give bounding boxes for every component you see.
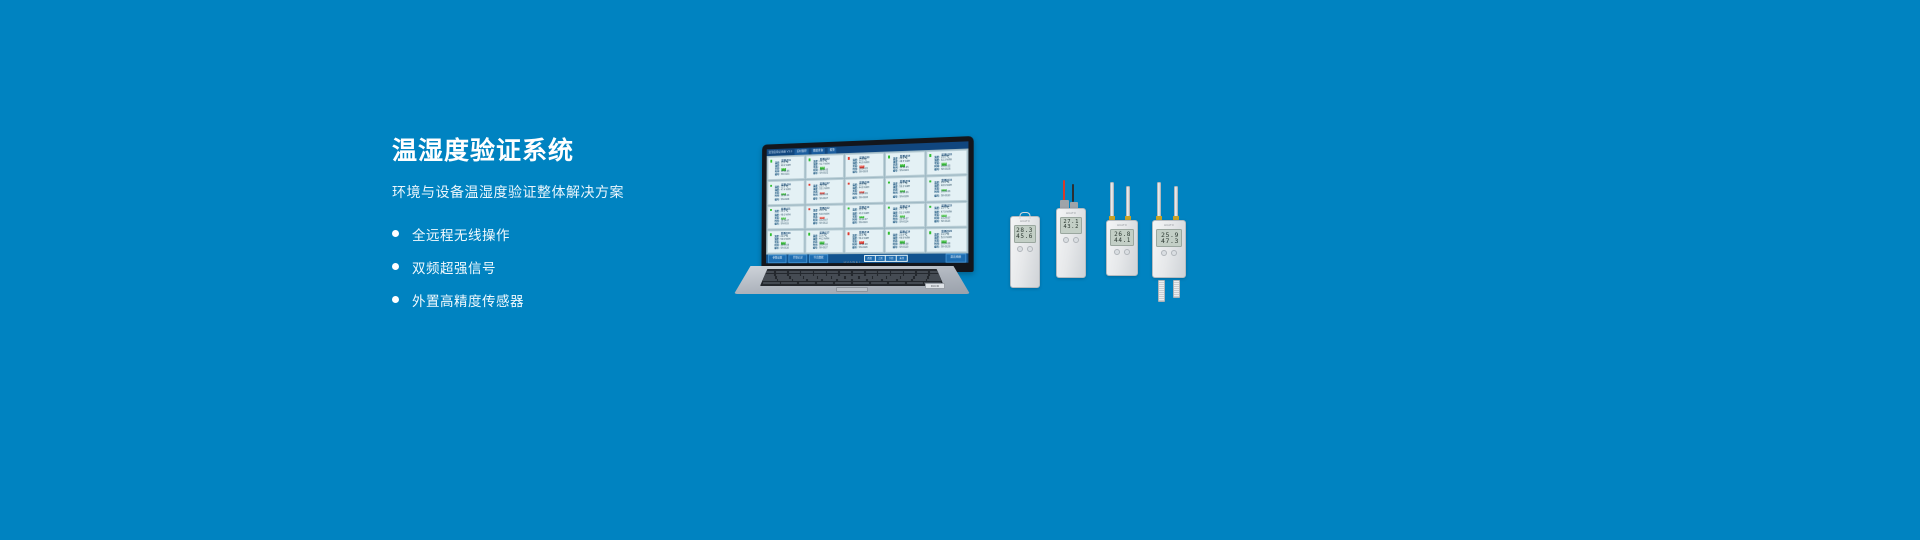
trackpad[interactable]: [836, 287, 868, 292]
keyboard-key[interactable]: [853, 271, 864, 273]
sensor-field-value: 48.6 %RH: [941, 185, 952, 188]
sensor-field-value: SN-0104: [900, 170, 909, 173]
keyboard-key[interactable]: [776, 274, 787, 276]
sensor-field-label: 编号:: [813, 247, 818, 250]
keyboard-key[interactable]: [799, 282, 816, 284]
sensor-field-label: 编号:: [852, 247, 857, 250]
sensor-card-row: 编号:SN-0109: [893, 195, 922, 199]
power-button[interactable]: [1017, 246, 1023, 252]
keyboard-key[interactable]: [917, 274, 928, 276]
app-toolbar: 参数设置 开始记录 导出数据 首页 上页 下页 末页 退出系统: [766, 253, 968, 263]
keyboard-key[interactable]: [827, 271, 838, 273]
keyboard-key[interactable]: [801, 271, 812, 273]
sensor-card[interactable]: 监测点05温度:25.0 ℃湿度:52.3 %RH状态:正常时间:10:24:0…: [926, 150, 967, 176]
feature-label: 外置高精度传感器: [412, 290, 524, 310]
exit-button[interactable]: 退出系统: [945, 254, 966, 263]
sensor-field-label: 编号:: [893, 196, 898, 199]
lcd-display: 28.3 45.6: [1014, 225, 1036, 243]
logger-body: HUATO 26.8 44.1: [1106, 220, 1138, 276]
keyboard-key[interactable]: [814, 271, 825, 273]
logger-body: HUATO 27.1 43.2: [1056, 208, 1086, 278]
sensor-card-row: 编号:SN-0106: [775, 198, 802, 202]
sensor-card-row: 编号:SN-0107: [813, 197, 841, 201]
keyboard-key[interactable]: [835, 282, 852, 284]
keyboard-key[interactable]: [889, 282, 906, 284]
probe-antenna-icon: [1174, 186, 1178, 218]
sensor-card[interactable]: 监测点06温度:23.9 ℃湿度:47.4 %RH状态:正常时间:10:24:0…: [767, 180, 804, 204]
sensor-field-value: SN-0105: [941, 169, 950, 172]
sensor-field-value: SN-0113: [859, 222, 868, 225]
sensor-field-value: SN-0112: [819, 222, 828, 225]
laptop-sticker: FCC ID: [925, 283, 945, 289]
sensor-card-row: 编号:SN-0120: [934, 246, 964, 249]
settings-button[interactable]: 参数设置: [768, 255, 787, 263]
keyboard-key[interactable]: [878, 271, 889, 273]
data-logger-1: HUATO 28.3 45.6: [1010, 216, 1040, 288]
sensor-field-label: 编号:: [934, 246, 940, 249]
sensor-field-label: 编号:: [774, 248, 779, 251]
keyboard-key[interactable]: [817, 282, 834, 284]
sensor-card-row: 编号:SN-0104: [893, 170, 922, 174]
keyboard-key[interactable]: [804, 276, 816, 278]
power-button[interactable]: [1114, 249, 1120, 255]
keyboard-key[interactable]: [853, 274, 864, 276]
sensor-field-label: 编号:: [853, 197, 858, 200]
feature-list: 全远程无线操作 双频超强信号 外置高精度传感器: [392, 224, 722, 310]
sensor-card-row: 编号:SN-0112: [813, 222, 841, 225]
sensor-card-row: 编号:SN-0102: [813, 172, 841, 176]
sensor-field-label: 编号:: [775, 174, 780, 177]
power-button[interactable]: [1161, 250, 1167, 256]
hanger-loop-icon: [1020, 212, 1031, 219]
sensor-card[interactable]: 监测点10温度:24.4 ℃湿度:48.6 %RH状态:正常时间:10:24:0…: [926, 175, 967, 201]
probe-antenna-icon: [1126, 186, 1130, 218]
keyboard-key[interactable]: [871, 282, 888, 284]
device-group: HUATO 28.3 45.6 HUATO 27.1: [1000, 178, 1230, 318]
sensor-field-label: 编号:: [852, 222, 857, 225]
laptop-brand-label: HUAWEI: [844, 260, 861, 264]
start-record-button[interactable]: 开始记录: [788, 255, 807, 263]
keyboard-key[interactable]: [776, 271, 787, 273]
sensor-card[interactable]: 监测点08温度:22.5 ℃湿度:44.8 %RH状态:超限时间:10:24:0…: [845, 178, 884, 203]
keyboard-key[interactable]: [860, 276, 872, 278]
logger-body: HUATO 25.9 47.3: [1152, 220, 1186, 278]
keyboard-key[interactable]: [866, 274, 877, 276]
sensor-field-value: SN-0111: [781, 223, 789, 226]
mode-button[interactable]: [1073, 237, 1079, 243]
page-title: 温湿度验证系统: [392, 138, 722, 166]
sensor-card-row: 编号:SN-0117: [813, 247, 841, 250]
keyboard-key[interactable]: [777, 276, 789, 278]
device-brand: HUATO: [1057, 212, 1085, 215]
device-brand: HUATO: [1011, 220, 1039, 223]
keyboard-key[interactable]: [904, 271, 915, 273]
probe-sensor-vent-icon: [1158, 280, 1165, 302]
sensor-card[interactable]: 监测点16温度:24.0 ℃湿度:50.6 %RH状态:正常时间:10:24:0…: [767, 230, 804, 254]
sensor-field-value: SN-0101: [781, 174, 789, 177]
sensor-card-row: 编号:SN-0105: [934, 168, 964, 172]
sensor-card-row: 编号:SN-0116: [774, 248, 801, 251]
sensor-field-value: SN-0117: [819, 247, 828, 250]
sensor-field-label: 编号:: [813, 173, 818, 176]
humidity-reading: 43.2: [1063, 225, 1079, 231]
sensor-field-value: 44.8 %RH: [859, 187, 869, 190]
feature-label: 双频超强信号: [412, 257, 496, 277]
data-logger-3: HUATO 26.8 44.1: [1106, 182, 1138, 276]
sensor-card[interactable]: 监测点09温度:23.7 ℃湿度:50.2 %RH状态:正常时间:10:24:0…: [885, 177, 925, 202]
sensor-card[interactable]: 监测点13温度:22.9 ℃湿度:45.3 %RH状态:正常时间:10:24:0…: [845, 203, 884, 228]
sensor-card-row: 编号:SN-0103: [853, 171, 881, 175]
sensor-card-row: 编号:SN-0101: [775, 174, 802, 178]
keyboard-key[interactable]: [808, 279, 822, 281]
sensor-field-label: 编号:: [775, 199, 780, 202]
sensor-card-row: 编号:SN-0118: [852, 247, 881, 250]
button-row: [1057, 237, 1085, 243]
humidity-reading: 44.1: [1114, 238, 1131, 244]
keyboard[interactable]: [760, 269, 944, 286]
lcd-display: 25.9 47.3: [1156, 229, 1182, 247]
keyboard-key[interactable]: [827, 274, 838, 276]
button-row: [1153, 250, 1185, 256]
sensor-card[interactable]: 监测点18温度:26.5 ℃湿度:56.4 %RH状态:超限时间:10:24:0…: [845, 229, 884, 254]
sensor-card-row: 编号:SN-0115: [934, 220, 964, 224]
page-first-button[interactable]: 首页: [865, 256, 874, 261]
humidity-reading: 47.3: [1161, 238, 1179, 245]
page-last-button[interactable]: 末页: [897, 256, 907, 261]
keyboard-key[interactable]: [887, 276, 899, 278]
keyboard-key[interactable]: [915, 276, 927, 278]
keyboard-key[interactable]: [778, 279, 792, 281]
device-brand: HUATO: [1153, 224, 1185, 227]
keyboard-key[interactable]: [866, 271, 877, 273]
hero-banner: 温湿度验证系统 环境与设备温湿度验证整体解决方案 全远程无线操作 双频超强信号 …: [0, 0, 1920, 540]
sensor-card[interactable]: 监测点14温度:24.8 ℃湿度:51.1 %RH状态:正常时间:10:24:0…: [885, 202, 925, 227]
sensor-card[interactable]: 监测点07温度:26.2 ℃湿度:55.1 %RH状态:超限时间:10:24:0…: [806, 179, 844, 204]
keyboard-key[interactable]: [929, 276, 941, 278]
sensor-field-label: 编号:: [813, 198, 818, 201]
sensor-card[interactable]: 监测点20温度:24.3 ℃湿度:52.0 %RH状态:正常时间:10:24:0…: [926, 227, 967, 252]
mode-button[interactable]: [1171, 250, 1177, 256]
sensor-field-label: 编号:: [893, 221, 898, 224]
sensor-field-label: 编号:: [853, 172, 858, 175]
sensor-card-row: 编号:SN-0108: [853, 196, 881, 200]
humidity-reading: 45.6: [1016, 234, 1033, 240]
sensor-field-label: 编号:: [934, 169, 939, 172]
keyboard-key[interactable]: [793, 279, 807, 281]
probe-wire-black-icon: [1072, 184, 1074, 202]
sensor-field-value: SN-0115: [941, 221, 950, 224]
sensor-card-row: 编号:SN-0113: [852, 222, 880, 226]
hero-text-block: 温湿度验证系统 环境与设备温湿度验证整体解决方案 全远程无线操作 双频超强信号 …: [392, 138, 722, 323]
probe-antenna-icon: [1110, 182, 1114, 218]
sensor-field-value: SN-0102: [819, 173, 828, 176]
keyboard-key[interactable]: [791, 276, 803, 278]
page-prev-button[interactable]: 上页: [876, 256, 885, 261]
bullet-dot-icon: [392, 230, 399, 237]
list-item: 外置高精度传感器: [392, 290, 722, 310]
keyboard-row: [763, 271, 941, 273]
data-logger-4: HUATO 25.9 47.3: [1152, 182, 1186, 278]
feature-label: 全远程无线操作: [412, 224, 510, 244]
sensor-card-row: 编号:SN-0119: [893, 247, 922, 250]
mode-button[interactable]: [1027, 246, 1033, 252]
keyboard-key[interactable]: [840, 274, 851, 276]
keyboard-key[interactable]: [898, 279, 912, 281]
sensor-card-row: 编号:SN-0111: [775, 223, 802, 226]
sensor-field-label: 编号:: [775, 223, 780, 226]
page-next-button[interactable]: 下页: [886, 256, 896, 261]
sensor-card-row: 编号:SN-0114: [893, 221, 922, 225]
sensor-card[interactable]: 监测点12温度:25.6 ℃湿度:53.8 %RH状态:超限时间:10:24:0…: [805, 204, 843, 229]
sensor-card[interactable]: 监测点03温度:22.8 ℃湿度:46.9 %RH状态:超限时间:10:24:0…: [845, 153, 884, 178]
sensor-field-value: SN-0103: [859, 171, 868, 174]
keyboard-key[interactable]: [840, 271, 851, 273]
keyboard-key[interactable]: [913, 279, 927, 281]
list-item: 全远程无线操作: [392, 224, 722, 244]
laptop-screen: 温湿度验证系统 V3.0 实时监控 数据查询 报警 监测点01温度:23.6 ℃…: [766, 141, 968, 263]
sensor-card[interactable]: 监测点17温度:22.6 ℃湿度:46.2 %RH状态:正常时间:10:24:0…: [805, 229, 843, 253]
page-subtitle: 环境与设备温湿度验证整体解决方案: [392, 182, 722, 202]
sensor-card[interactable]: 监测点15温度:23.4 ℃湿度:47.9 %RH状态:正常时间:10:24:0…: [926, 201, 967, 227]
sensor-card-row: 编号:SN-0110: [934, 194, 964, 198]
keyboard-key[interactable]: [927, 279, 941, 281]
keyboard-key[interactable]: [917, 271, 928, 273]
export-button[interactable]: 导出数据: [809, 255, 828, 263]
button-row: [1107, 249, 1137, 255]
device-brand: HUATO: [1107, 224, 1137, 227]
keyboard-key[interactable]: [873, 276, 885, 278]
sensor-field-value: SN-0108: [859, 197, 868, 200]
tab-alarm[interactable]: 报警: [828, 147, 837, 153]
keyboard-row: [763, 282, 941, 284]
pagination: 首页 上页 下页 末页: [864, 255, 908, 261]
keyboard-key[interactable]: [853, 279, 867, 281]
sensor-field-value: SN-0116: [781, 248, 789, 251]
sensor-card[interactable]: 监测点04温度:23.3 ℃湿度:49.5 %RH状态:正常时间:10:24:0…: [885, 151, 925, 177]
power-button[interactable]: [1063, 237, 1069, 243]
sensor-field-value: SN-0110: [941, 195, 950, 198]
sensor-field-label: 编号:: [934, 221, 940, 224]
sensor-field-value: SN-0107: [819, 198, 828, 201]
keyboard-key[interactable]: [853, 282, 870, 284]
keyboard-key[interactable]: [789, 274, 800, 276]
sensor-field-value: 50.2 %RH: [899, 186, 910, 189]
logger-body: HUATO 28.3 45.6: [1010, 216, 1040, 288]
sensor-card[interactable]: 监测点19温度:23.8 ℃湿度:48.9 %RH状态:正常时间:10:24:0…: [885, 228, 925, 253]
sensor-field-value: SN-0118: [859, 247, 868, 250]
keyboard-key[interactable]: [823, 279, 837, 281]
keyboard-row: [763, 276, 941, 278]
keyboard-key[interactable]: [846, 276, 858, 278]
laptop-lid: 温湿度验证系统 V3.0 实时监控 数据查询 报警 监测点01温度:23.6 ℃…: [761, 136, 973, 272]
keyboard-row: [763, 279, 941, 281]
probe-wire-red-icon: [1063, 180, 1065, 202]
keyboard-key[interactable]: [891, 271, 902, 273]
keyboard-key[interactable]: [878, 274, 889, 276]
keyboard-key[interactable]: [904, 274, 915, 276]
keyboard-key[interactable]: [789, 271, 800, 273]
sensor-field-label: 编号:: [813, 223, 818, 226]
bullet-dot-icon: [392, 296, 399, 303]
keyboard-key[interactable]: [901, 276, 913, 278]
sensor-field-value: SN-0119: [899, 247, 908, 250]
keyboard-key[interactable]: [832, 276, 844, 278]
laptop-illustration: 温湿度验证系统 V3.0 实时监控 数据查询 报警 监测点01温度:23.6 ℃…: [718, 140, 986, 298]
data-logger-2: HUATO 27.1 43.2: [1056, 198, 1086, 278]
keyboard-key[interactable]: [883, 279, 897, 281]
keyboard-key[interactable]: [838, 279, 852, 281]
keyboard-key[interactable]: [891, 274, 902, 276]
button-row: [1011, 246, 1039, 252]
keyboard-key[interactable]: [781, 282, 798, 284]
sensor-field-label: 编号:: [893, 247, 898, 250]
sensor-field-value: SN-0114: [899, 221, 908, 224]
sensor-card[interactable]: 监测点02温度:24.1 ℃湿度:51.7 %RH状态:正常时间:10:24:0…: [806, 154, 844, 179]
lcd-display: 27.1 43.2: [1060, 217, 1082, 234]
probe-sensor-vent-icon: [1173, 280, 1180, 298]
keyboard-key[interactable]: [763, 282, 780, 284]
keyboard-key[interactable]: [801, 274, 812, 276]
probe-antenna-icon: [1157, 182, 1161, 218]
keyboard-row: [763, 274, 941, 276]
lcd-display: 26.8 44.1: [1110, 229, 1134, 246]
bullet-dot-icon: [392, 263, 399, 270]
sensor-card-grid: 监测点01温度:23.6 ℃湿度:48.2 %RH状态:正常时间:10:24:0…: [766, 149, 968, 255]
keyboard-key[interactable]: [818, 276, 830, 278]
keyboard-key[interactable]: [763, 279, 777, 281]
sensor-field-value: SN-0109: [899, 196, 908, 199]
sensor-field-label: 编号:: [893, 171, 898, 174]
sensor-field-label: 编号:: [934, 195, 939, 198]
list-item: 双频超强信号: [392, 257, 722, 277]
keyboard-key[interactable]: [907, 282, 924, 284]
sensor-card[interactable]: 监测点11温度:23.1 ℃湿度:49.0 %RH状态:正常时间:10:24:0…: [767, 205, 804, 229]
laptop-base: [718, 266, 986, 298]
sensor-field-value: SN-0106: [781, 198, 789, 201]
keyboard-key[interactable]: [868, 279, 882, 281]
mode-button[interactable]: [1124, 249, 1130, 255]
sensor-card[interactable]: 监测点01温度:23.6 ℃湿度:48.2 %RH状态:正常时间:10:24:0…: [767, 156, 804, 181]
sensor-field-value: SN-0120: [941, 246, 950, 249]
keyboard-key[interactable]: [814, 274, 825, 276]
keyboard-key[interactable]: [763, 276, 775, 278]
